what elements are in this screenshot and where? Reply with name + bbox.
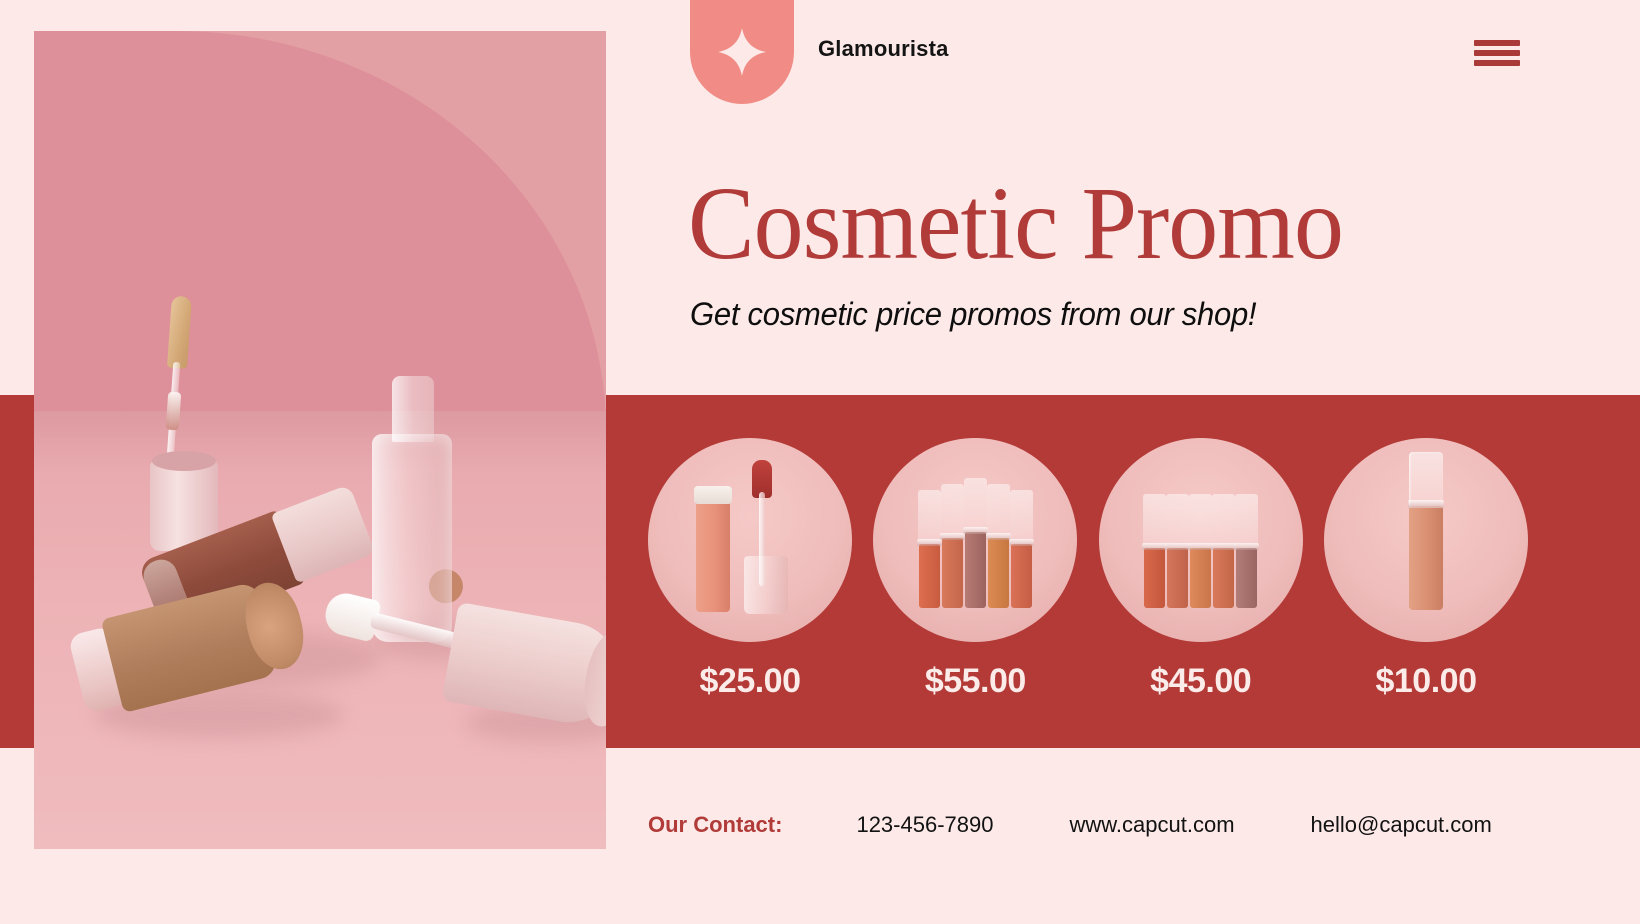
product-tube — [1236, 548, 1257, 608]
product-image-circle — [873, 438, 1077, 642]
product-tube — [1144, 548, 1165, 608]
menu-bar — [1474, 40, 1520, 46]
menu-bar — [1474, 60, 1520, 66]
photo-content — [34, 31, 606, 849]
tube-ring — [986, 533, 1011, 540]
tube-clear-cap — [1010, 490, 1033, 544]
sparkle-star-icon — [716, 26, 768, 78]
tube-ring — [1142, 543, 1167, 550]
tube-ring — [1408, 500, 1444, 508]
bottle-neck — [392, 376, 434, 442]
tube-ring — [963, 527, 988, 534]
tube-lid — [694, 486, 732, 504]
contact-row: Our Contact: 123-456-7890 www.capcut.com… — [648, 800, 1548, 850]
tube-ring — [1211, 543, 1236, 550]
tube-clear-cap — [1235, 494, 1258, 548]
product-tube-group — [873, 532, 1077, 608]
product-price: $10.00 — [1375, 662, 1476, 701]
menu-bar — [1474, 50, 1520, 56]
contact-email[interactable]: hello@capcut.com — [1311, 812, 1492, 838]
product-image-circle — [648, 438, 852, 642]
product-tube — [988, 538, 1009, 608]
product-image-circle — [1099, 438, 1303, 642]
hamburger-menu-icon[interactable] — [1474, 40, 1520, 66]
product-card[interactable]: $25.00 — [648, 438, 852, 718]
product-tube-group — [1099, 548, 1303, 608]
page-title: Cosmetic Promo — [688, 170, 1552, 278]
tube-ring — [940, 533, 965, 540]
wand-tip — [167, 296, 192, 369]
product-card[interactable]: $55.00 — [873, 438, 1077, 718]
tube-ring — [1009, 539, 1034, 546]
product-card[interactable]: $10.00 — [1324, 438, 1528, 718]
brand-logo[interactable] — [690, 0, 794, 104]
product-price: $45.00 — [1150, 662, 1251, 701]
product-tube — [696, 502, 730, 612]
hero-product-photo — [34, 31, 606, 849]
product-tube — [942, 538, 963, 608]
product-tube — [1409, 506, 1443, 610]
tube-clear-cap — [1143, 494, 1166, 548]
product-price: $55.00 — [925, 662, 1026, 701]
tube-ring — [1165, 543, 1190, 550]
product-tube — [1190, 548, 1211, 608]
product-list: $25.00 $55.00 — [648, 438, 1528, 718]
product-tube — [919, 544, 940, 608]
tube-ring — [1234, 543, 1259, 550]
page-subtitle: Get cosmetic price promos from our shop! — [690, 296, 1563, 333]
contact-website[interactable]: www.capcut.com — [1069, 812, 1234, 838]
contact-label: Our Contact: — [648, 812, 782, 838]
product-tube — [1213, 548, 1234, 608]
photo-backdrop-arch — [34, 31, 606, 461]
brand-name: Glamourista — [818, 36, 949, 62]
tube-clear-cap — [941, 484, 964, 538]
tube-clear-cap — [1189, 494, 1212, 548]
product-tube — [1011, 544, 1032, 608]
tube-clear-cap — [918, 490, 941, 544]
product-tube — [965, 532, 986, 608]
tube-ring — [917, 539, 942, 546]
product-price: $25.00 — [700, 662, 801, 701]
poster-canvas: Glamourista Cosmetic Promo Get cosmetic … — [0, 0, 1640, 924]
contact-phone[interactable]: 123-456-7890 — [856, 812, 993, 838]
product-glass-cup — [744, 556, 788, 614]
tube-clear-cap — [1166, 494, 1189, 548]
product-card[interactable]: $45.00 — [1099, 438, 1303, 718]
tube-clear-cap — [987, 484, 1010, 538]
wand-gloss — [166, 392, 182, 431]
tube-clear-cap — [1212, 494, 1235, 548]
tube-clear-cap — [964, 478, 987, 532]
product-image-circle — [1324, 438, 1528, 642]
tube-ring — [1188, 543, 1213, 550]
product-tube — [1167, 548, 1188, 608]
